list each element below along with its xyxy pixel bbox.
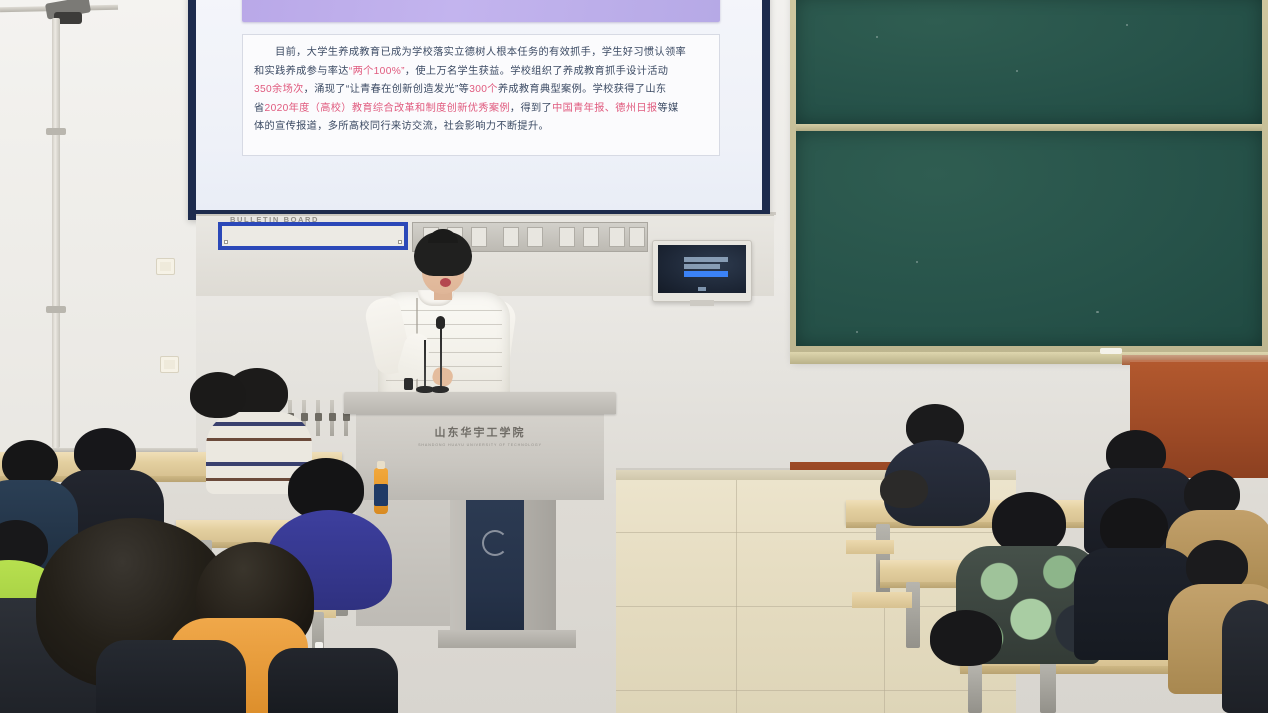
slide-text-normal: ，使上万名学生获益。学校组织了养成教育抓手设计活动 (405, 66, 668, 77)
student-jacket (268, 648, 398, 713)
wall-left-panel (0, 0, 196, 470)
conduit-clamp (46, 306, 66, 313)
wall-conduit-pipe (52, 18, 60, 448)
login-username-field[interactable] (684, 257, 728, 262)
slide-text-normal: ，得到了 (510, 103, 552, 114)
bottle-label (374, 484, 388, 506)
bottle-cap (377, 461, 385, 469)
podium-nameplate: 山东华宇工学院 SHANDONG HUAYU UNIVERSITY OF TEC… (356, 424, 604, 447)
power-outlet (156, 258, 175, 275)
slide-banner: 每名学生完成了养成教育成长手册; ➢ 1名学生入围全国大学生年度人物评选。 (242, 0, 720, 22)
podium-base (438, 630, 576, 648)
student-jacket (96, 640, 246, 713)
lecture-hall-photo: 每名学生完成了养成教育成长手册; ➢ 1名学生入围全国大学生年度人物评选。 目前… (0, 0, 1268, 713)
student-head (190, 372, 246, 418)
student-head (880, 470, 928, 508)
slide-text-normal: ，涌现了“让青春在创新创造发光”等 (304, 84, 470, 95)
blackboard-panel-bottom (796, 131, 1262, 346)
blackboard-divider (796, 124, 1262, 131)
blackboard (790, 0, 1268, 360)
login-submit-button[interactable] (684, 271, 728, 277)
microphone-stem (440, 328, 442, 390)
slide-text-highlight: 2020年度（高校）教育综合改革和制度创新优秀案例 (265, 103, 510, 114)
slide-text-normal: 等媒 (657, 103, 678, 114)
podium-emblem-logo (482, 530, 508, 556)
slide-text-normal: 和实践养成参与率达 (254, 66, 349, 77)
student-jacket (1222, 600, 1268, 713)
projection-screen: 每名学生完成了养成教育成长手册; ➢ 1名学生入围全国大学生年度人物评选。 目前… (188, 0, 770, 220)
projection-screen-surface: 每名学生完成了养成教育成长手册; ➢ 1名学生入围全国大学生年度人物评选。 目前… (196, 0, 762, 210)
presenter-mouth (440, 278, 451, 287)
monitor-screen[interactable] (658, 245, 746, 293)
slide-text-normal: 目前，大学生养成教育已成为学校落实立德树人根本任务的有效抓手，学生好习惯认领率 (254, 47, 686, 58)
slide-text-normal: 体的宣传报道，多所高校同行来访交流，社会影响力不断提升。 (254, 121, 549, 132)
presenter (352, 232, 542, 404)
slide-text-highlight: 中国青年报、德州日报 (552, 103, 657, 114)
bulletin-screw (224, 240, 228, 244)
podium-body: 山东华宇工学院 SHANDONG HUAYU UNIVERSITY OF TEC… (356, 412, 604, 500)
conduit-clamp (46, 128, 66, 135)
slide-text-highlight: 300个 (469, 84, 498, 95)
slide-body-line-3: 350余场次，涌现了“让青春在创新创造发光”等300个养成教育典型案例。学校获得… (254, 81, 708, 100)
monitor-stand (690, 300, 714, 306)
bench-seat (846, 540, 894, 554)
microphone-base (416, 386, 434, 393)
presenter-hair-bun (428, 229, 458, 243)
student-head (930, 610, 1002, 666)
desk-mic-unit (404, 378, 413, 390)
slide-body-text: 目前，大学生养成教育已成为学校落实立德树人根本任务的有效抓手，学生好习惯认领率和… (242, 34, 720, 156)
desk-frame (968, 664, 982, 713)
slide-body-line-5: 体的宣传报道，多所高校同行来访交流，社会影响力不断提升。 (254, 118, 708, 137)
power-outlet (160, 356, 179, 373)
slide-text-highlight: “两个100%” (349, 66, 405, 77)
chalk-piece (1100, 348, 1122, 354)
desk-frame (1040, 662, 1056, 713)
podium-name-english: SHANDONG HUAYU UNIVERSITY OF TECHNOLOGY (356, 443, 604, 447)
slide-text-highlight: 350余场次 (254, 84, 304, 95)
juice-bottle (374, 468, 388, 514)
podium-name-chinese: 山东华宇工学院 (356, 424, 604, 440)
login-dialog[interactable] (684, 257, 730, 285)
bench-seat (852, 592, 912, 608)
blackboard-panel-top (796, 0, 1262, 124)
bulletin-board-label: BULLETIN BOARD (230, 215, 319, 224)
slide-banner-line-2: 1名学生入围全国大学生年度人物评选。 (252, 0, 714, 2)
presentation-slide: 每名学生完成了养成教育成长手册; ➢ 1名学生入围全国大学生年度人物评选。 目前… (196, 0, 762, 210)
podium-desktop (344, 392, 616, 414)
login-footer-text (698, 287, 706, 291)
wall-monitor[interactable] (652, 240, 752, 302)
login-password-field[interactable] (684, 264, 720, 269)
slide-body-line-2: 和实践养成参与率达“两个100%”，使上万名学生获益。学校组织了养成教育抓手设计… (254, 63, 708, 82)
slide-body-line-1: 目前，大学生养成教育已成为学校落实立德树人根本任务的有效抓手，学生好习惯认领率 (254, 44, 708, 63)
slide-body-line-4: 省2020年度（高校）教育综合改革和制度创新优秀案例，得到了中国青年报、德州日报… (254, 100, 708, 119)
slide-text-normal: 养成教育典型案例。学校获得了山东 (498, 84, 667, 95)
student-head (992, 492, 1066, 554)
slide-text-normal: 省 (254, 103, 265, 114)
microphone-stem (424, 340, 426, 390)
